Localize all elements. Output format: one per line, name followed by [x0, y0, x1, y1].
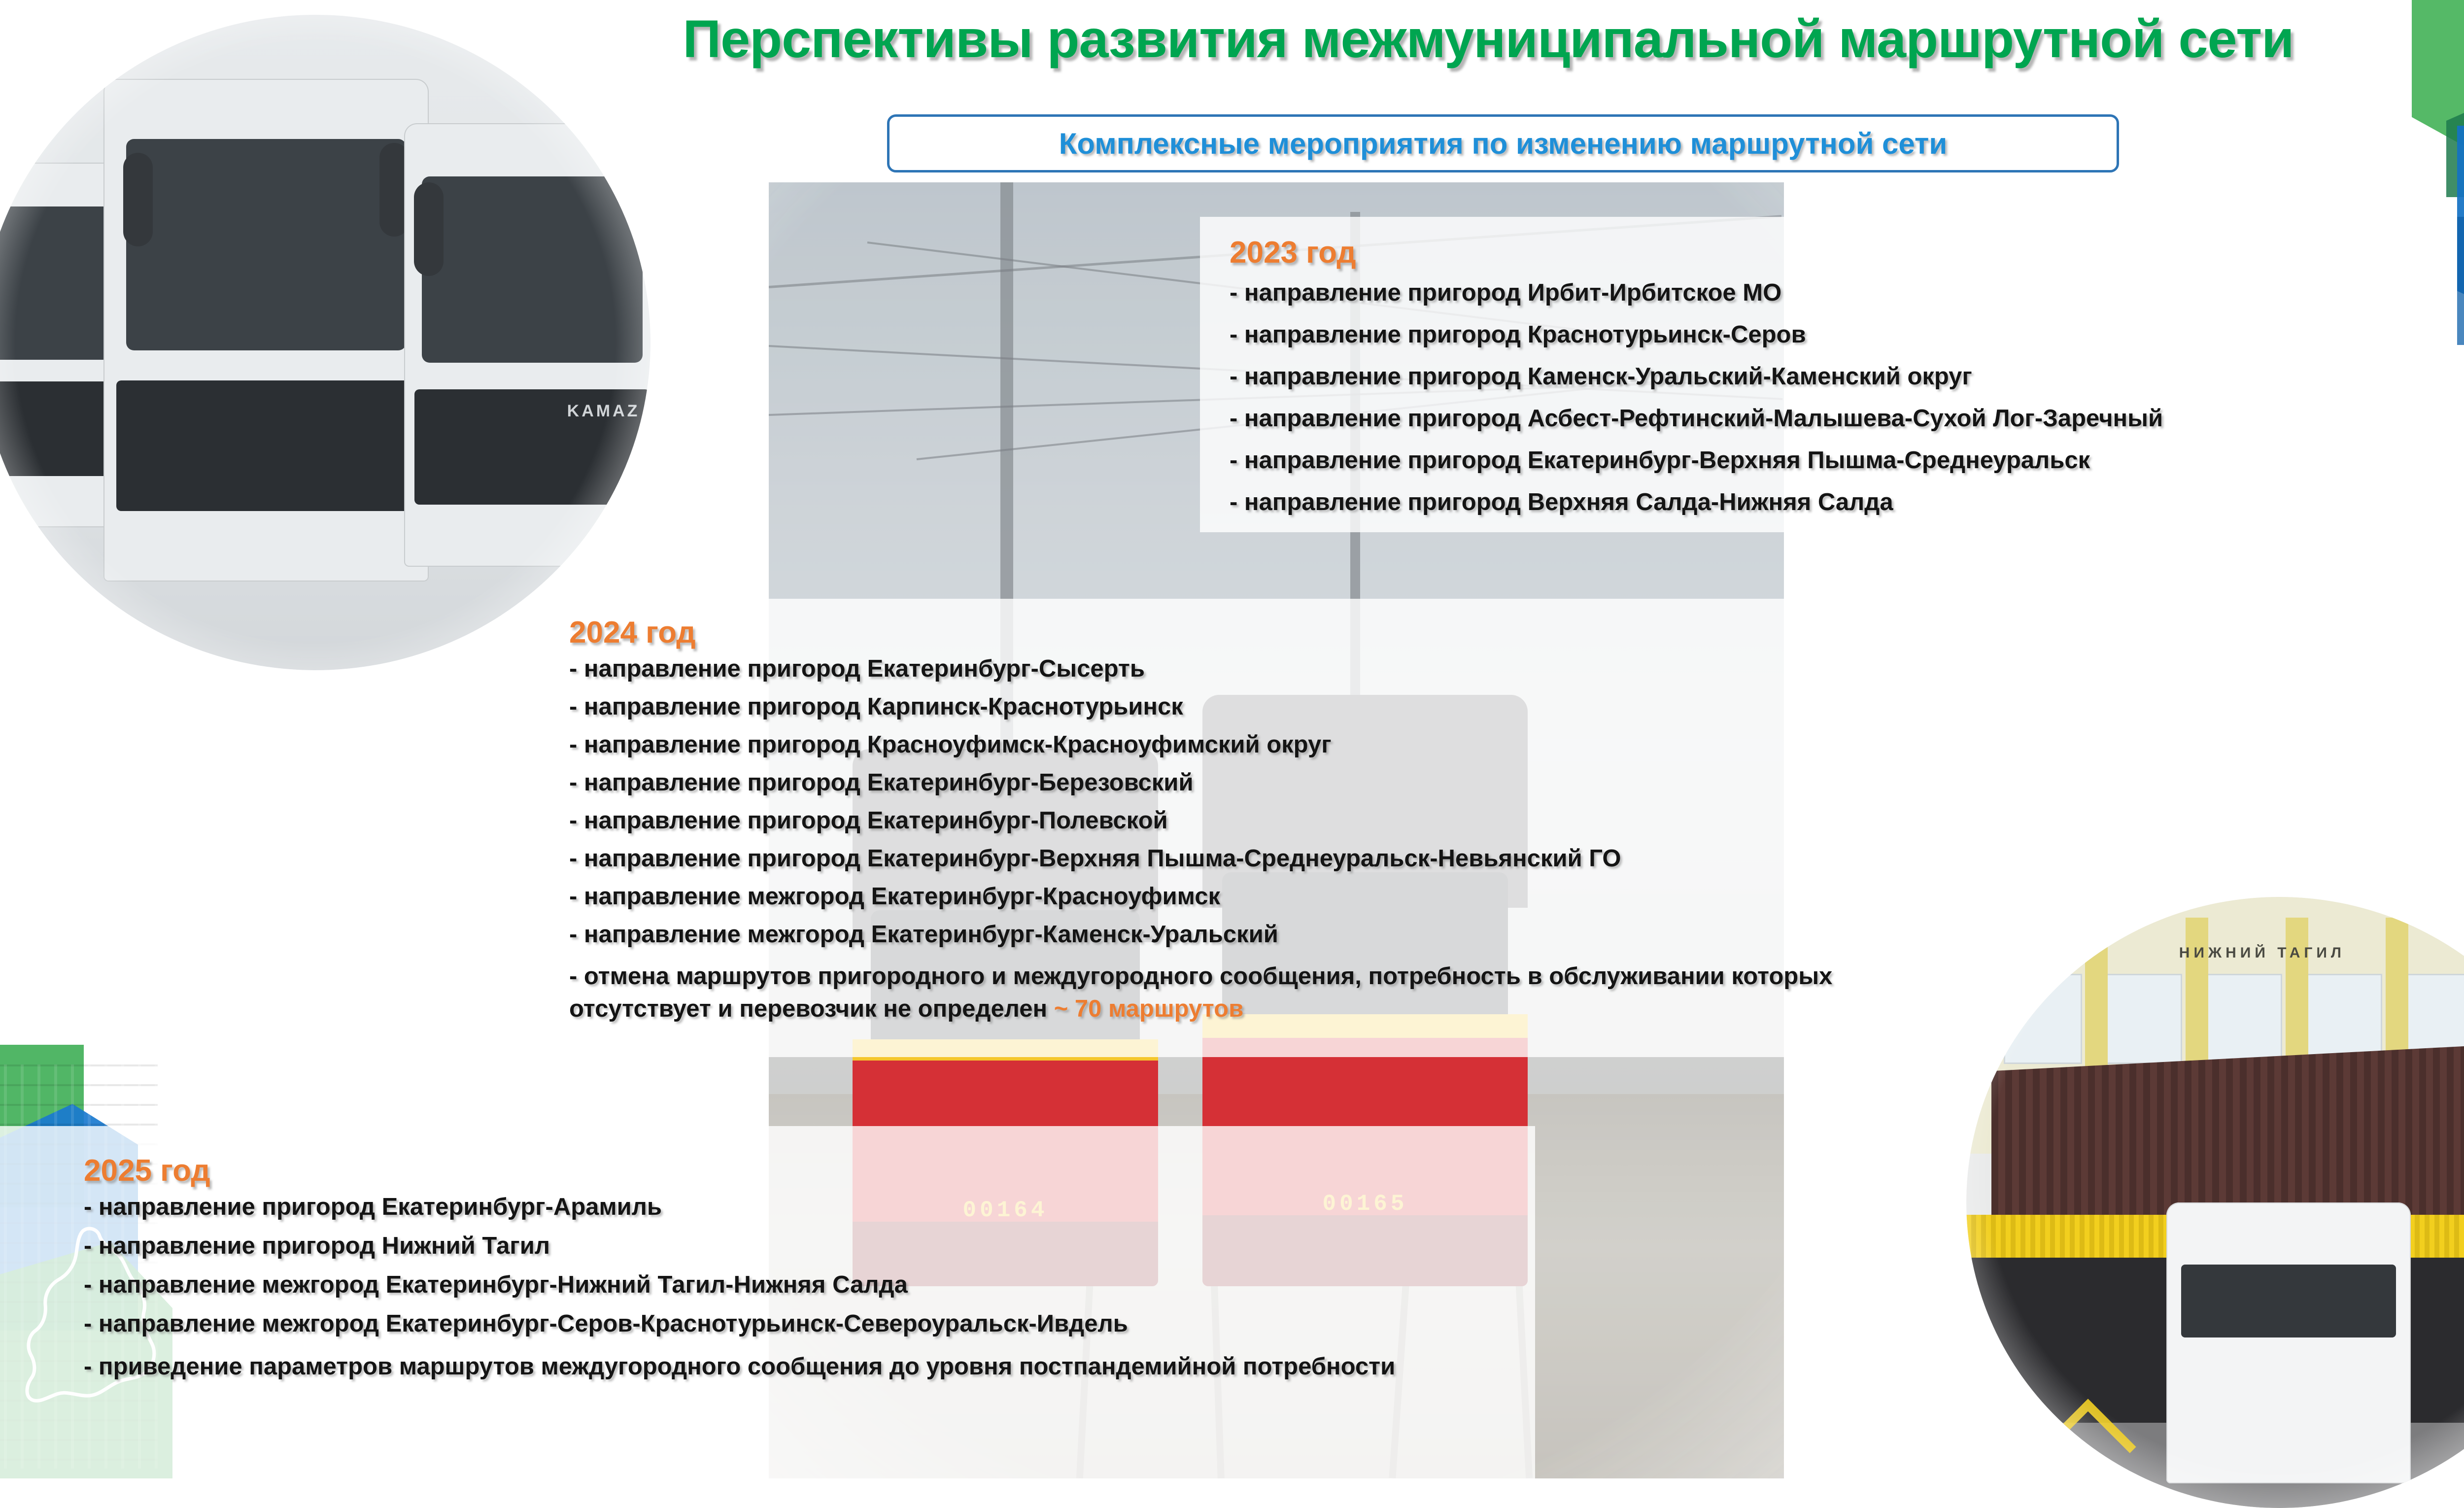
route-list-2025: - направление пригород Екатеринбург-Арам… [84, 1195, 1535, 1383]
year-heading-2024: 2024 год [569, 617, 1838, 648]
bus-vehicle-right: KAMAZ [404, 123, 650, 567]
route-item: - направление пригород Екатеринбург-Верх… [569, 847, 1838, 871]
bus-brand-label: KAMAZ [567, 403, 640, 419]
route-cancellation-note: - отмена маршрутов пригородного и междуг… [569, 960, 1838, 1025]
route-item: - направление пригород Екатеринбург-Бере… [569, 771, 1838, 795]
station-name-sign: НИЖНИЙ ТАГИЛ [2179, 946, 2345, 960]
minibus-window [2181, 1265, 2396, 1337]
route-list-2024: - направление пригород Екатеринбург-Сысе… [569, 657, 1838, 1025]
deco-blue-shape [2457, 217, 2464, 345]
page-title: Перспективы развития межмуниципальной ма… [586, 11, 2390, 67]
route-item: - направление пригород Екатеринбург-Верх… [1230, 448, 2427, 473]
station-window [2104, 974, 2182, 1064]
subtitle-banner: Комплексные мероприятия по изменению мар… [887, 114, 2119, 172]
route-item: - направление пригород Краснотурьинск-Се… [1230, 323, 2427, 347]
bus-mirror [123, 153, 153, 246]
station-window [2204, 974, 2282, 1064]
year-heading-2025: 2025 год [84, 1156, 1535, 1186]
route-item: - направление межгород Екатеринбург-Крас… [569, 885, 1838, 909]
route-item: - направление пригород Верхняя Салда-Ниж… [1230, 490, 2427, 514]
route-item: - приведение параметров маршрутов междуг… [84, 1351, 1535, 1383]
station-window [2004, 974, 2082, 1064]
route-item: - направление пригород Екатеринбург-Арам… [84, 1195, 1535, 1219]
year-panel-2025: 2025 год - направление пригород Екатерин… [0, 1126, 1535, 1478]
year-panel-2023: 2023 год - направление пригород Ирбит-Ир… [1200, 217, 2427, 532]
route-cancellation-count: ~ 70 маршрутов [1054, 995, 1244, 1022]
photo-kamaz-buses: KAMAZ [0, 15, 650, 670]
route-item: - направление пригород Асбест-Рефтинский… [1230, 407, 2427, 431]
bus-windshield [126, 139, 406, 350]
bus-vehicle-main [103, 79, 429, 582]
bus-front-panel [116, 380, 415, 511]
route-item: - направление пригород Екатеринбург-Поле… [569, 809, 1838, 833]
route-item: - направление пригород Екатеринбург-Сысе… [569, 657, 1838, 681]
year-panel-2024: 2024 год - направление пригород Екатерин… [552, 599, 1838, 1057]
route-item: - направление пригород Каменск-Уральский… [1230, 365, 2427, 389]
photo-nizhny-tagil-station: НИЖНИЙ ТАГИЛ [1966, 897, 2464, 1508]
subtitle-text: Комплексные мероприятия по изменению мар… [1059, 127, 1948, 161]
route-item: - направление пригород Карпинск-Красноту… [569, 695, 1838, 719]
route-item: - направление пригород Нижний Тагил [84, 1234, 1535, 1258]
bus-windshield [422, 176, 642, 363]
route-item: - направление пригород Красноуфимск-Крас… [569, 733, 1838, 757]
year-heading-2023: 2023 год [1230, 238, 2427, 268]
route-item: - направление межгород Екатеринбург-Нижн… [84, 1273, 1535, 1297]
route-list-2023: - направление пригород Ирбит-Ирбитское М… [1230, 281, 2427, 514]
route-item: - направление межгород Екатеринбург-Каме… [569, 923, 1838, 947]
station-window [2304, 974, 2382, 1064]
route-item: - направление пригород Ирбит-Ирбитское М… [1230, 281, 2427, 305]
minibus-vehicle [2166, 1202, 2410, 1483]
route-item: - направление межгород Екатеринбург-Серо… [84, 1312, 1535, 1336]
bus-mirror [414, 182, 444, 276]
